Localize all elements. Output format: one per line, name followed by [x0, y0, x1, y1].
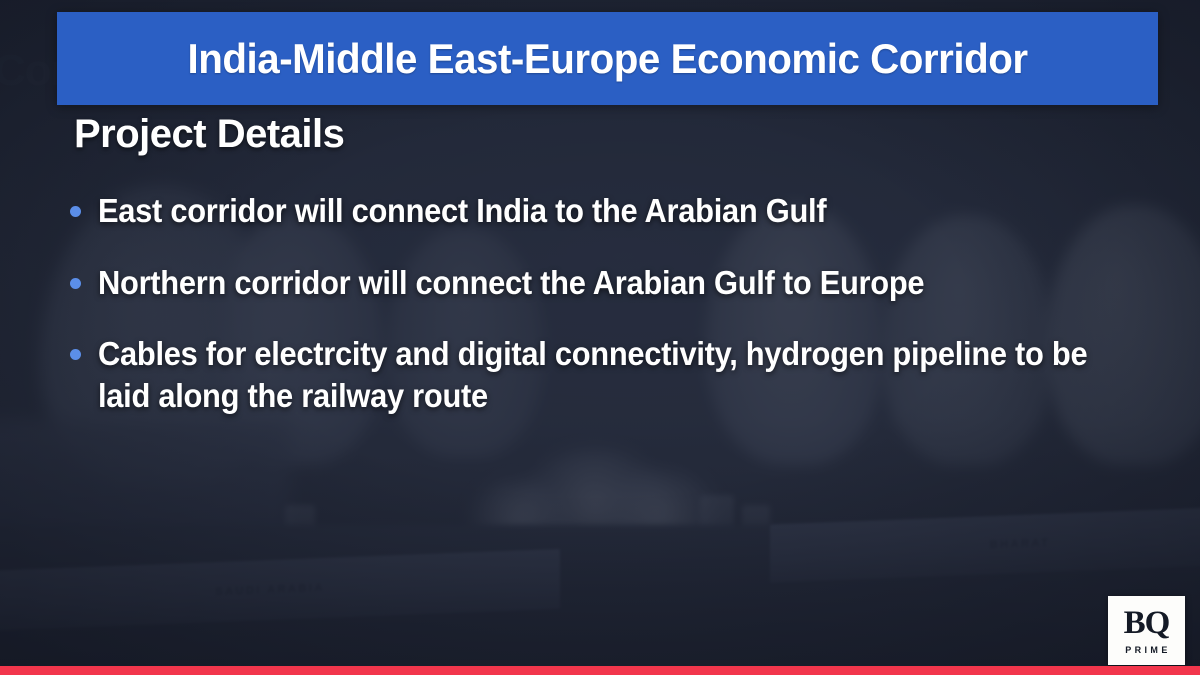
bullet-dot-icon [70, 206, 81, 217]
list-item: Cables for electrcity and digital connec… [70, 333, 1160, 416]
logo-mark: BQ [1124, 608, 1170, 638]
list-item: East corridor will connect India to the … [70, 190, 1160, 232]
page-title: India-Middle East-Europe Economic Corrid… [187, 35, 1027, 83]
section-heading: Project Details [74, 112, 344, 157]
bullet-list: East corridor will connect India to the … [70, 190, 1160, 446]
list-item-text: Northern corridor will connect the Arabi… [98, 262, 924, 304]
logo-wordmark: PRIME [1125, 645, 1171, 655]
bullet-dot-icon [70, 349, 81, 360]
slide-canvas: SAUDI ARABIA BHARAT Cor India-Middle Eas… [0, 0, 1200, 675]
list-item-text: Cables for electrcity and digital connec… [98, 333, 1091, 416]
bq-prime-logo: BQ PRIME [1108, 596, 1185, 665]
list-item: Northern corridor will connect the Arabi… [70, 262, 1160, 304]
bullet-dot-icon [70, 278, 81, 289]
footer-accent-bar [0, 666, 1200, 675]
title-banner: India-Middle East-Europe Economic Corrid… [57, 12, 1158, 105]
list-item-text: East corridor will connect India to the … [98, 190, 826, 232]
